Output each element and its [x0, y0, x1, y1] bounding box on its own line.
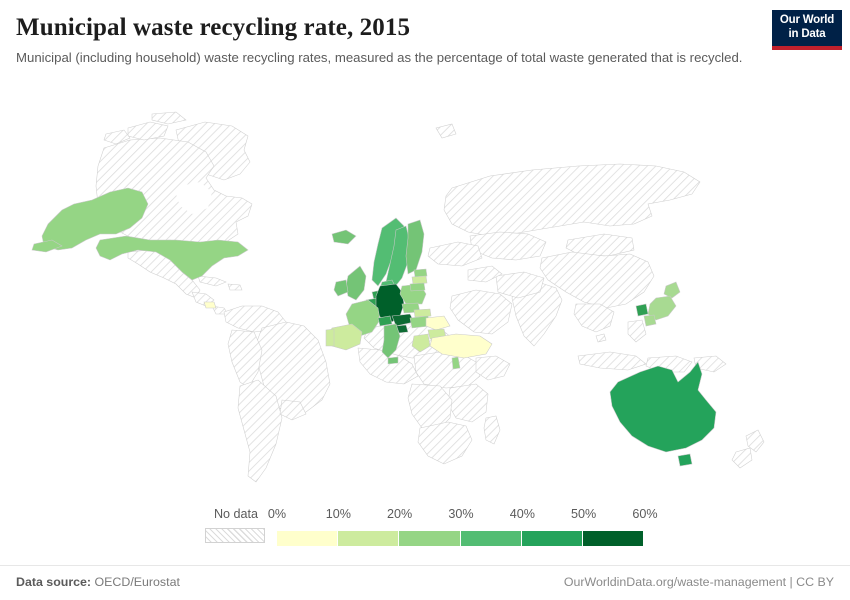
data-source-value: OECD/Eurostat [95, 575, 180, 589]
legend-color-bar[interactable] [277, 531, 643, 546]
country-portugal[interactable] [326, 329, 334, 346]
country-sahel-central-africa[interactable] [414, 352, 480, 388]
legend-tick-60: 60% [632, 508, 657, 521]
country-finland[interactable] [406, 220, 424, 274]
country-horn-of-africa[interactable] [476, 356, 510, 380]
chart-footer: Data source: OECD/Eurostat OurWorldinDat… [0, 565, 850, 589]
legend-tick-20: 20% [387, 508, 412, 521]
country-middle-east[interactable] [450, 290, 512, 334]
legend-no-data-group[interactable]: No data [205, 508, 267, 543]
legend-bin-10[interactable] [338, 531, 399, 546]
data-source-label: Data source: [16, 575, 91, 589]
chart-header: Municipal waste recycling rate, 2015 Mun… [16, 14, 766, 67]
owid-logo-line-1: Our World [772, 14, 842, 28]
country-costa-rica[interactable] [204, 302, 216, 308]
country-japan[interactable] [664, 282, 680, 298]
country-switzerland[interactable] [378, 316, 392, 326]
country-madagascar[interactable] [484, 416, 500, 444]
legend-tick-labels: 0% 10% 20% 30% 40% 50% 60% [277, 508, 645, 524]
country-peru-bolivia[interactable] [228, 330, 262, 388]
country-southern-africa[interactable] [418, 422, 472, 464]
legend-bin-50[interactable] [583, 531, 643, 546]
world-map-svg[interactable] [0, 100, 850, 505]
legend-tick-40: 40% [510, 508, 535, 521]
legend-no-data-swatch[interactable] [205, 528, 265, 543]
country-southeast-asia[interactable] [574, 304, 614, 332]
country-iceland[interactable] [332, 230, 356, 244]
world-map[interactable] [0, 100, 850, 505]
country-latvia[interactable] [412, 276, 427, 284]
country-hispaniola[interactable] [228, 284, 242, 290]
country-tasmania[interactable] [678, 454, 692, 466]
country-lithuania[interactable] [410, 283, 425, 291]
country-south-korea[interactable] [636, 304, 648, 316]
country-ukraine-belarus[interactable] [428, 242, 482, 266]
legend-tick-30: 30% [448, 508, 473, 521]
country-chile-argentina[interactable] [238, 380, 282, 482]
owid-logo-line-2: in Data [772, 28, 842, 42]
island-group-svalbard[interactable] [436, 124, 456, 138]
page-title: Municipal waste recycling rate, 2015 [16, 14, 766, 42]
country-united-kingdom[interactable] [346, 266, 366, 300]
country-new-zealand-south[interactable] [732, 448, 752, 468]
legend-bin-40[interactable] [522, 531, 583, 546]
data-source: Data source: OECD/Eurostat [16, 575, 180, 589]
chart-credit[interactable]: OurWorldinData.org/waste-management | CC… [564, 575, 834, 589]
country-australia[interactable] [610, 362, 716, 452]
owid-map-chart: Municipal waste recycling rate, 2015 Mun… [0, 0, 850, 600]
country-sicily[interactable] [388, 357, 398, 364]
country-indonesia-1[interactable] [578, 352, 646, 370]
legend-tick-10: 10% [326, 508, 351, 521]
legend-no-data-label: No data [205, 508, 267, 521]
owid-logo[interactable]: Our World in Data [772, 10, 842, 50]
map-legend: No data 0% 10% 20% 30% 40% 50% 60% [0, 508, 850, 556]
country-cuba[interactable] [198, 276, 226, 286]
chart-subtitle: Municipal (including household) waste re… [16, 49, 751, 67]
country-japan-kyushu[interactable] [644, 315, 656, 326]
country-philippines[interactable] [628, 320, 646, 342]
legend-bin-30[interactable] [461, 531, 522, 546]
island-group-pacific[interactable] [596, 334, 606, 342]
legend-tick-0: 0% [268, 508, 286, 521]
legend-bin-20[interactable] [399, 531, 460, 546]
country-canada-arctic-1[interactable] [128, 122, 168, 140]
country-east-africa[interactable] [448, 384, 488, 422]
legend-bin-0[interactable] [277, 531, 338, 546]
country-slovakia[interactable] [414, 309, 431, 317]
legend-scale-group[interactable]: 0% 10% 20% 30% 40% 50% 60% [277, 508, 645, 546]
country-ireland[interactable] [334, 280, 348, 296]
legend-tick-50: 50% [571, 508, 596, 521]
country-russia[interactable] [444, 164, 700, 236]
country-canada-arctic-3[interactable] [152, 112, 186, 124]
